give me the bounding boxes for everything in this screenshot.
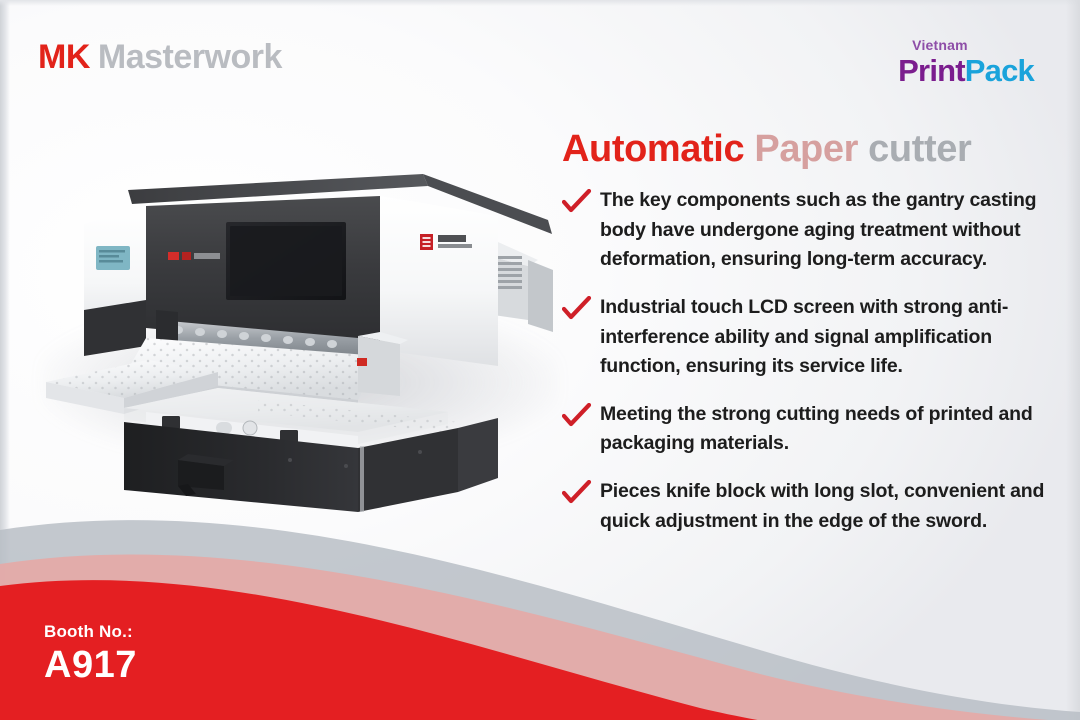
logo-mk-text: MK	[38, 38, 90, 76]
headline-part-automatic: Automatic	[562, 128, 744, 170]
list-item: Meeting the strong cutting needs of prin…	[560, 400, 1060, 459]
page-title: Automatic Paper cutter	[562, 128, 971, 171]
emergency-indicator	[357, 358, 367, 366]
wave-svg	[0, 460, 1080, 720]
rear-module-side	[528, 260, 553, 332]
list-item: The key components such as the gantry ca…	[560, 186, 1060, 275]
front-rotary-knob	[243, 421, 257, 435]
lcd-screen-glass	[230, 226, 342, 296]
check-icon	[562, 189, 592, 215]
front-knob-rocker	[216, 422, 232, 434]
headline-part-cutter: cutter	[868, 128, 971, 170]
feature-text: Meeting the strong cutting needs of prin…	[600, 403, 1033, 455]
feature-text: The key components such as the gantry ca…	[600, 189, 1036, 270]
logo-masterwork-text: Masterwork	[98, 38, 282, 76]
booth-label: Booth No.:	[44, 622, 137, 642]
check-icon	[562, 403, 592, 429]
printpack-country-label: Vietnam	[912, 38, 1034, 52]
side-status-display	[96, 246, 130, 270]
panel-brand-mark	[168, 252, 220, 260]
manufacturer-badge-icon	[420, 234, 472, 250]
feature-text: Industrial touch LCD screen with strong …	[600, 296, 1008, 377]
check-icon	[562, 296, 592, 322]
printpack-wordmark: PrintPack	[898, 55, 1034, 86]
top-edge-shade	[0, 0, 1080, 6]
mk-masterwork-logo: MKMasterwork	[38, 38, 282, 77]
printpack-print-text: Print	[898, 53, 965, 88]
booth-info: Booth No.: A917	[44, 622, 137, 684]
list-item: Industrial touch LCD screen with strong …	[560, 293, 1060, 382]
printpack-pack-text: Pack	[965, 53, 1034, 88]
decorative-wave-band	[0, 460, 1080, 720]
vietnam-printpack-logo: Vietnam PrintPack	[898, 38, 1034, 86]
booth-number: A917	[44, 646, 137, 684]
poster-canvas: MKMasterwork Vietnam PrintPack	[0, 0, 1080, 720]
headline-part-paper: Paper	[754, 128, 858, 170]
